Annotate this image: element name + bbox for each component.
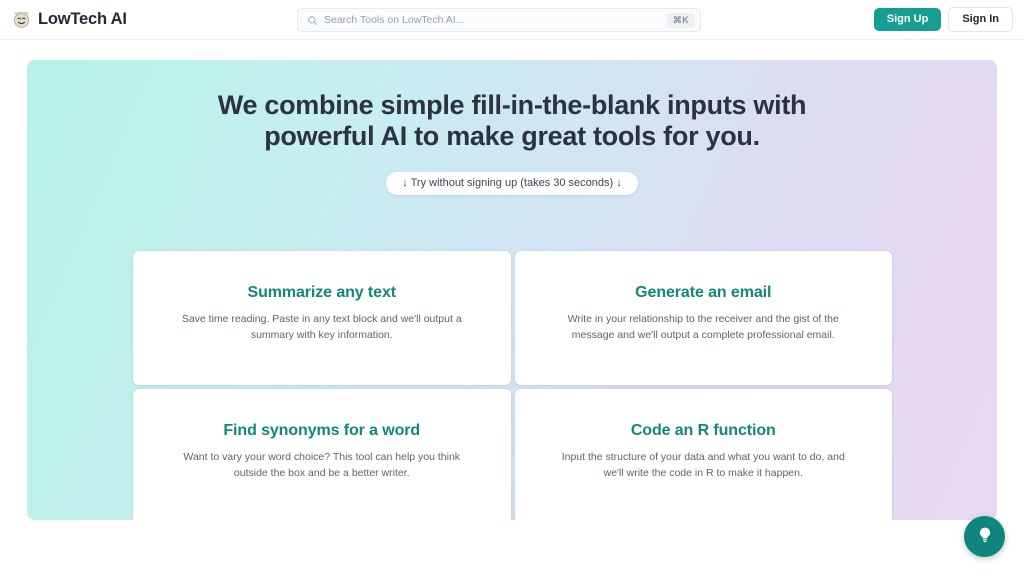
sign-up-button[interactable]: Sign Up — [874, 8, 942, 31]
search-box[interactable]: Search Tools on LowTech AI... ⌘K — [297, 8, 701, 32]
tool-card-grid: Summarize any text Save time reading. Pa… — [133, 251, 892, 520]
try-pill-row: ↓ Try without signing up (takes 30 secon… — [27, 172, 997, 195]
brand-name: LowTech AI — [38, 11, 127, 28]
page-body: We combine simple fill-in-the-blank inpu… — [0, 40, 1024, 576]
tool-card-title: Summarize any text — [157, 283, 487, 302]
tool-card-description: Want to vary your word choice? This tool… — [176, 450, 468, 482]
tool-card-title: Generate an email — [539, 283, 869, 302]
search-bar[interactable]: Search Tools on LowTech AI... ⌘K — [297, 8, 701, 32]
help-ideas-fab-button[interactable] — [964, 516, 1005, 557]
tool-card-description: Save time reading. Paste in any text blo… — [176, 312, 468, 344]
tool-card-description: Input the structure of your data and wha… — [557, 450, 849, 482]
tool-card-description: Write in your relationship to the receiv… — [557, 312, 849, 344]
page-title: We combine simple fill-in-the-blank inpu… — [27, 60, 997, 152]
search-icon — [307, 14, 318, 26]
headline-line-1: We combine simple fill-in-the-blank inpu… — [218, 90, 806, 120]
search-shortcut-badge: ⌘K — [667, 13, 695, 28]
hero-section: We combine simple fill-in-the-blank inpu… — [27, 60, 997, 520]
auth-buttons: Sign Up Sign In — [874, 7, 1013, 32]
sign-in-button[interactable]: Sign In — [948, 7, 1013, 32]
smiley-face-logo-icon — [12, 10, 31, 29]
tool-card-title: Find synonyms for a word — [157, 421, 487, 440]
tool-card-code-r-function[interactable]: Code an R function Input the structure o… — [515, 389, 893, 520]
headline-line-2: powerful AI to make great tools for you. — [27, 121, 997, 152]
tool-card-find-synonyms[interactable]: Find synonyms for a word Want to vary yo… — [133, 389, 511, 520]
search-input[interactable]: Search Tools on LowTech AI... — [324, 15, 661, 26]
brand-logo-link[interactable]: LowTech AI — [12, 10, 127, 29]
tool-card-generate-email[interactable]: Generate an email Write in your relation… — [515, 251, 893, 385]
tool-card-summarize[interactable]: Summarize any text Save time reading. Pa… — [133, 251, 511, 385]
tool-card-title: Code an R function — [539, 421, 869, 440]
top-navigation-bar: LowTech AI Search Tools on LowTech AI...… — [0, 0, 1024, 40]
lightbulb-icon — [975, 525, 995, 548]
try-without-signing-up-button[interactable]: ↓ Try without signing up (takes 30 secon… — [386, 172, 638, 195]
